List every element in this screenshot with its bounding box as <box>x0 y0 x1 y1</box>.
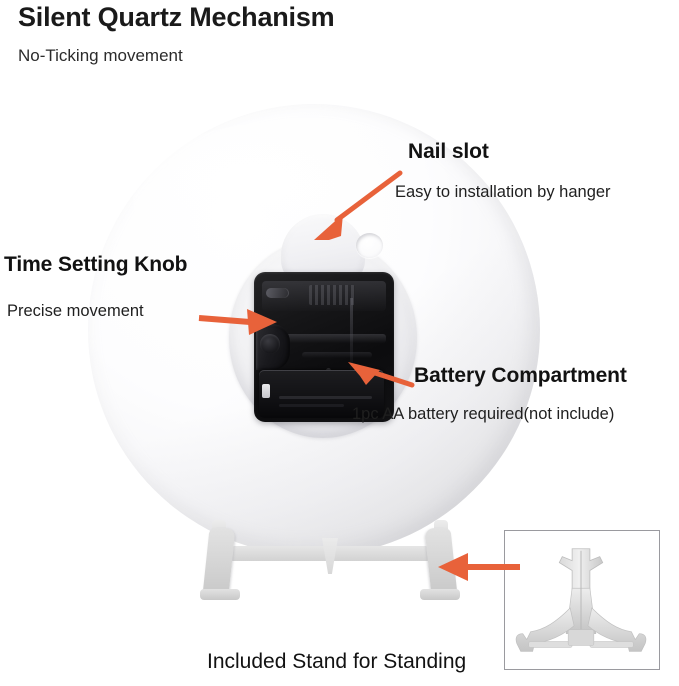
stand-foot-right <box>420 589 460 600</box>
page-subtitle: No-Ticking movement <box>18 46 183 66</box>
battery-door-groove-2 <box>279 404 344 407</box>
easel-stand-under-clock <box>196 520 464 602</box>
stand-leg-left <box>202 528 235 596</box>
callout-subtitle-nail-slot: Easy to installation by hanger <box>395 183 611 202</box>
callout-title-battery-compartment: Battery Compartment <box>414 364 627 388</box>
callout-subtitle-time-setting-knob: Precise movement <box>7 302 144 321</box>
page-title: Silent Quartz Mechanism <box>18 2 334 33</box>
bottom-caption: Included Stand for Standing <box>207 650 466 674</box>
stand-leg-right <box>424 528 457 596</box>
time-setting-dial <box>260 334 280 354</box>
clock-back-disc <box>88 104 540 556</box>
movement-ridge-lower <box>302 352 372 358</box>
movement-box <box>254 272 394 422</box>
callout-title-nail-slot: Nail slot <box>408 140 489 164</box>
movement-embossing <box>309 285 355 305</box>
easel-stand-illustration <box>505 531 659 669</box>
stand-inset-panel <box>504 530 660 670</box>
callout-title-time-setting-knob: Time Setting Knob <box>4 253 187 277</box>
battery-contact-spring <box>262 384 270 398</box>
product-infographic: Silent Quartz Mechanism No-Ticking movem… <box>0 0 679 686</box>
nail-slot-hole <box>356 233 383 258</box>
movement-gear-marking <box>266 288 288 298</box>
stand-foot-left <box>200 589 240 600</box>
battery-door-groove <box>279 396 372 399</box>
callout-subtitle-battery-compartment: 1pc AA battery required(not include) <box>352 405 614 424</box>
